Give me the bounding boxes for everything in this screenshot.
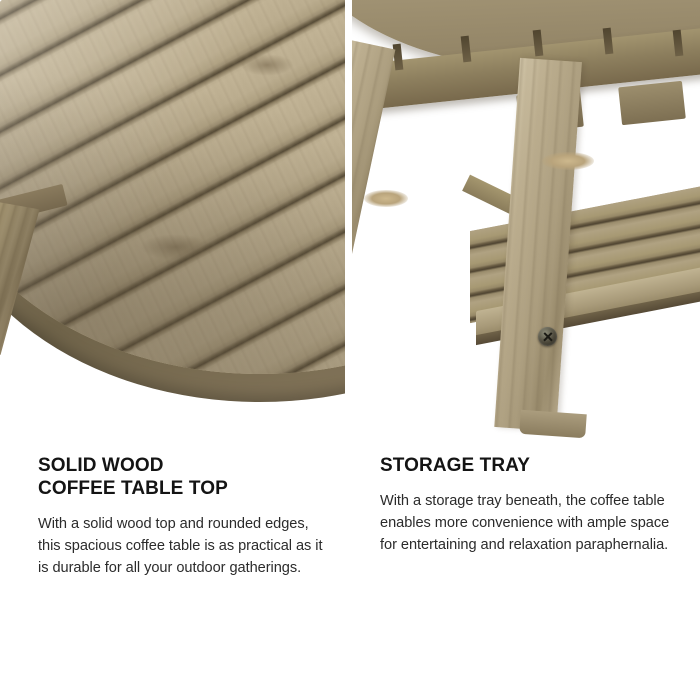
round-table-top-illustration — [0, 0, 345, 424]
feature-description: With a solid wood top and rounded edges,… — [38, 513, 328, 580]
product-photo-table-top — [0, 0, 345, 442]
feature-description: With a storage tray beneath, the coffee … — [380, 490, 670, 557]
table-leg-foot — [519, 410, 587, 439]
feature-copy-row: SOLID WOOD COFFEE TABLE TOP With a solid… — [0, 455, 700, 700]
wood-knot-icon — [542, 152, 594, 170]
apron-joint-block — [618, 81, 686, 125]
table-leg-far — [352, 38, 395, 313]
screw-icon — [538, 327, 557, 346]
feature-block-storage-tray: STORAGE TRAY With a storage tray beneath… — [380, 455, 670, 557]
slat-end — [393, 44, 404, 71]
product-feature-sheet: SOLID WOOD COFFEE TABLE TOP With a solid… — [0, 0, 700, 700]
table-leg-near — [494, 58, 582, 431]
product-photo-storage-tray — [352, 0, 700, 442]
wood-knot-icon — [364, 190, 408, 207]
feature-heading: SOLID WOOD COFFEE TABLE TOP — [38, 455, 328, 501]
storage-tray-illustration — [352, 0, 700, 442]
image-panel-row — [0, 0, 700, 442]
feature-heading: STORAGE TRAY — [380, 455, 670, 478]
feature-block-table-top: SOLID WOOD COFFEE TABLE TOP With a solid… — [38, 455, 328, 579]
